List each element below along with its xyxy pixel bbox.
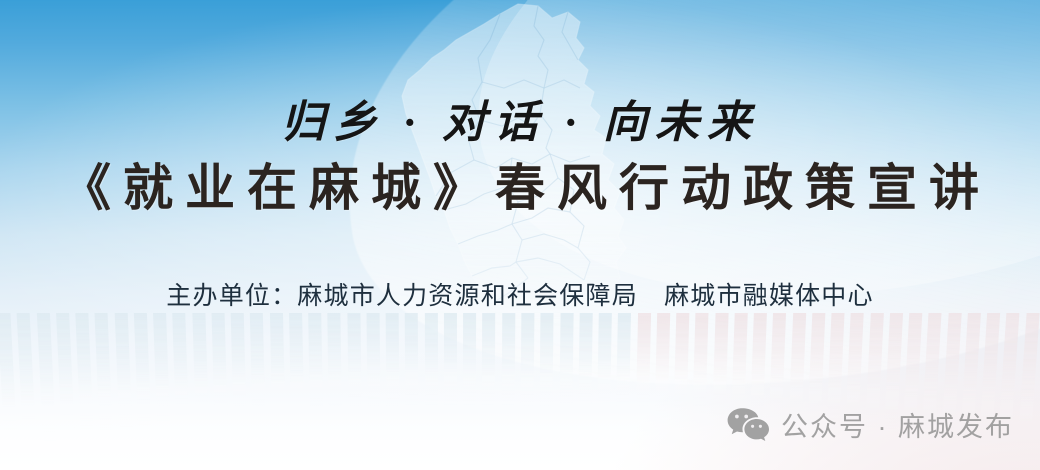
- equalizer-bar: [153, 313, 170, 424]
- organizer-line: 主办单位：麻城市人力资源和社会保障局 麻城市融媒体中心: [0, 276, 1040, 312]
- equalizer-bar: [559, 313, 573, 407]
- wechat-watermark: 公众号 · 麻城发布: [726, 405, 1014, 444]
- tagline: 归乡 · 对话 · 向未来: [0, 86, 1040, 150]
- equalizer-bar: [674, 313, 690, 412]
- equalizer-bar: [347, 313, 361, 407]
- equalizer-bar: [769, 313, 786, 419]
- promo-banner: 归乡 · 对话 · 向未来 《就业在麻城》春风行动政策宣讲 主办单位：麻城市人力…: [0, 0, 1040, 470]
- equalizer-bar: [250, 313, 265, 414]
- equalizer-bar: [134, 313, 151, 427]
- equalizer-bar: [501, 313, 515, 405]
- wechat-icon: [726, 406, 770, 444]
- equalizer-bar: [731, 313, 747, 416]
- equalizer-bar: [308, 313, 323, 409]
- equalizer-bar: [56, 313, 75, 439]
- equalizer-bar: [270, 313, 285, 412]
- equalizer-bar: [693, 313, 709, 413]
- wechat-label: 公众号 · 麻城发布: [781, 405, 1014, 444]
- equalizer-bar: [95, 313, 113, 432]
- equalizer-bar: [75, 313, 93, 435]
- equalizer-bar: [0, 313, 18, 449]
- equalizer-bar: [444, 313, 457, 405]
- equalizer-bar: [405, 313, 418, 405]
- equalizer-bar: [114, 313, 132, 429]
- equalizer-bar: [17, 313, 37, 446]
- equalizer-bar: [231, 313, 247, 415]
- equalizer-bar: [366, 313, 380, 406]
- equalizer-bar: [463, 313, 476, 405]
- equalizer-bar: [712, 313, 728, 414]
- equalizer-bar: [289, 313, 304, 411]
- equalizer-bar: [482, 313, 495, 405]
- equalizer-bar: [36, 313, 55, 442]
- page-title: 《就业在麻城》春风行动政策宣讲: [0, 148, 1040, 220]
- equalizer-bar: [597, 313, 612, 408]
- equalizer-bar: [578, 313, 592, 407]
- equalizer-bar: [173, 313, 190, 422]
- equalizer-bar: [1017, 313, 1039, 449]
- equalizer-bar: [425, 313, 438, 405]
- equalizer-bar: [540, 313, 554, 406]
- equalizer-bar: [521, 313, 535, 406]
- equalizer-bar: [211, 313, 227, 417]
- equalizer-bars-decoration: [0, 305, 1040, 470]
- equalizer-bar: [386, 313, 400, 406]
- equalizer-bar: [750, 313, 767, 417]
- equalizer-bar: [616, 313, 631, 409]
- equalizer-bar: [655, 313, 670, 411]
- equalizer-bar: [328, 313, 342, 408]
- equalizer-bar: [192, 313, 208, 419]
- equalizer-bar: [635, 313, 650, 410]
